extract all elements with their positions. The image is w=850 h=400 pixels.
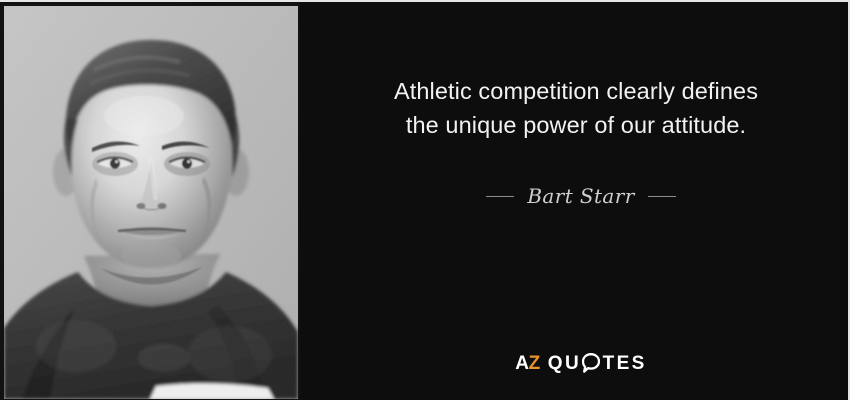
portrait-photo-graphic — [4, 6, 298, 399]
portrait-photo — [4, 6, 298, 399]
quote-text: Athletic competition clearly defines the… — [320, 74, 832, 142]
attribution-rule-left — [486, 196, 514, 197]
speech-bubble-icon — [582, 353, 600, 373]
logo-quotes-part1: QU — [548, 354, 581, 373]
quote-card: Athletic competition clearly defines the… — [0, 0, 850, 400]
azquotes-logo[interactable]: AZ QU TES — [300, 353, 848, 373]
author-name: Bart Starr — [527, 184, 634, 208]
logo-quotes-part2: TES — [603, 354, 647, 373]
logo-quotes-word: QU TES — [548, 353, 647, 373]
logo-letter-z: Z — [529, 353, 540, 374]
portrait-photo-pane — [0, 2, 300, 400]
attribution: Bart Starr — [300, 184, 848, 208]
logo-az-mark: AZ — [515, 354, 540, 373]
attribution-rule-right — [648, 196, 676, 197]
logo-letter-a: A — [515, 353, 528, 374]
quote-panel: Athletic competition clearly defines the… — [300, 2, 848, 400]
